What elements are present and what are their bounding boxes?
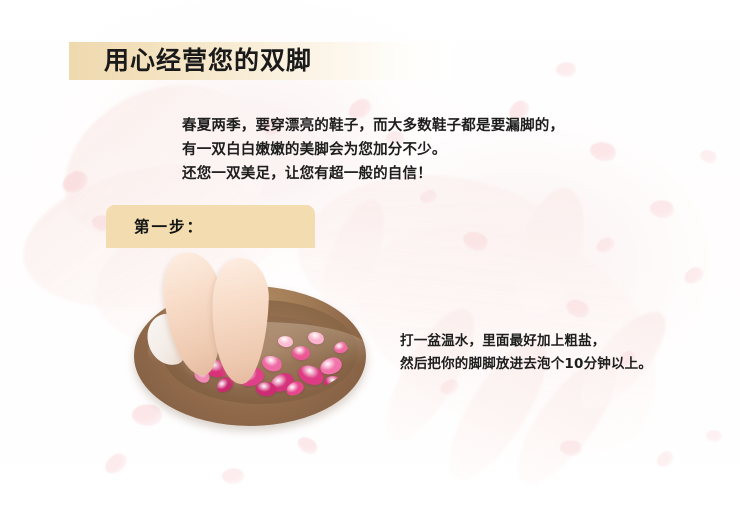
caption-line-1: 打一盆温水，里面最好加上粗盐，: [400, 330, 700, 353]
rose-petal: [295, 433, 321, 458]
step-caption: 打一盆温水，里面最好加上粗盐， 然后把你的脚脚放进去泡个10分钟以上。: [400, 330, 700, 376]
rose-petal: [594, 236, 616, 255]
rose-petal: [704, 428, 723, 445]
promo-page: 用心经营您的双脚 春夏两季，要穿漂亮的鞋子，而大多数鞋子都是要漏脚的， 有一双白…: [0, 0, 740, 511]
foot-soak-photo: [124, 252, 376, 430]
rose-petal: [101, 450, 130, 477]
rose-petal: [460, 227, 491, 255]
rose-petal: [60, 168, 91, 195]
caption-line-2: 然后把你的脚脚放进去泡个10分钟以上。: [400, 353, 700, 376]
rose-petal: [439, 378, 461, 396]
intro-line-2: 有一双白白嫩嫩的美脚会为您加分不少。: [182, 138, 602, 162]
intro-line-1: 春夏两季，要穿漂亮的鞋子，而大多数鞋子都是要漏脚的，: [182, 114, 602, 138]
background-finger-2: [503, 180, 597, 322]
rose-petal: [682, 265, 706, 286]
page-title: 用心经营您的双脚: [104, 43, 434, 79]
rose-petal: [558, 438, 583, 459]
rose-petal: [563, 295, 592, 322]
rose-petal: [555, 60, 577, 78]
step-label-text: 第一步：: [134, 214, 204, 240]
rose-petal: [698, 147, 719, 167]
rose-petal: [221, 467, 245, 486]
rose-petal: [648, 197, 676, 222]
rose-petal: [654, 449, 676, 470]
intro-paragraph: 春夏两季，要穿漂亮的鞋子，而大多数鞋子都是要漏脚的， 有一双白白嫩嫩的美脚会为您…: [182, 114, 602, 186]
intro-line-3: 还您一双美足，让您有超一般的自信！: [182, 162, 602, 186]
rose-petal: [419, 188, 438, 204]
